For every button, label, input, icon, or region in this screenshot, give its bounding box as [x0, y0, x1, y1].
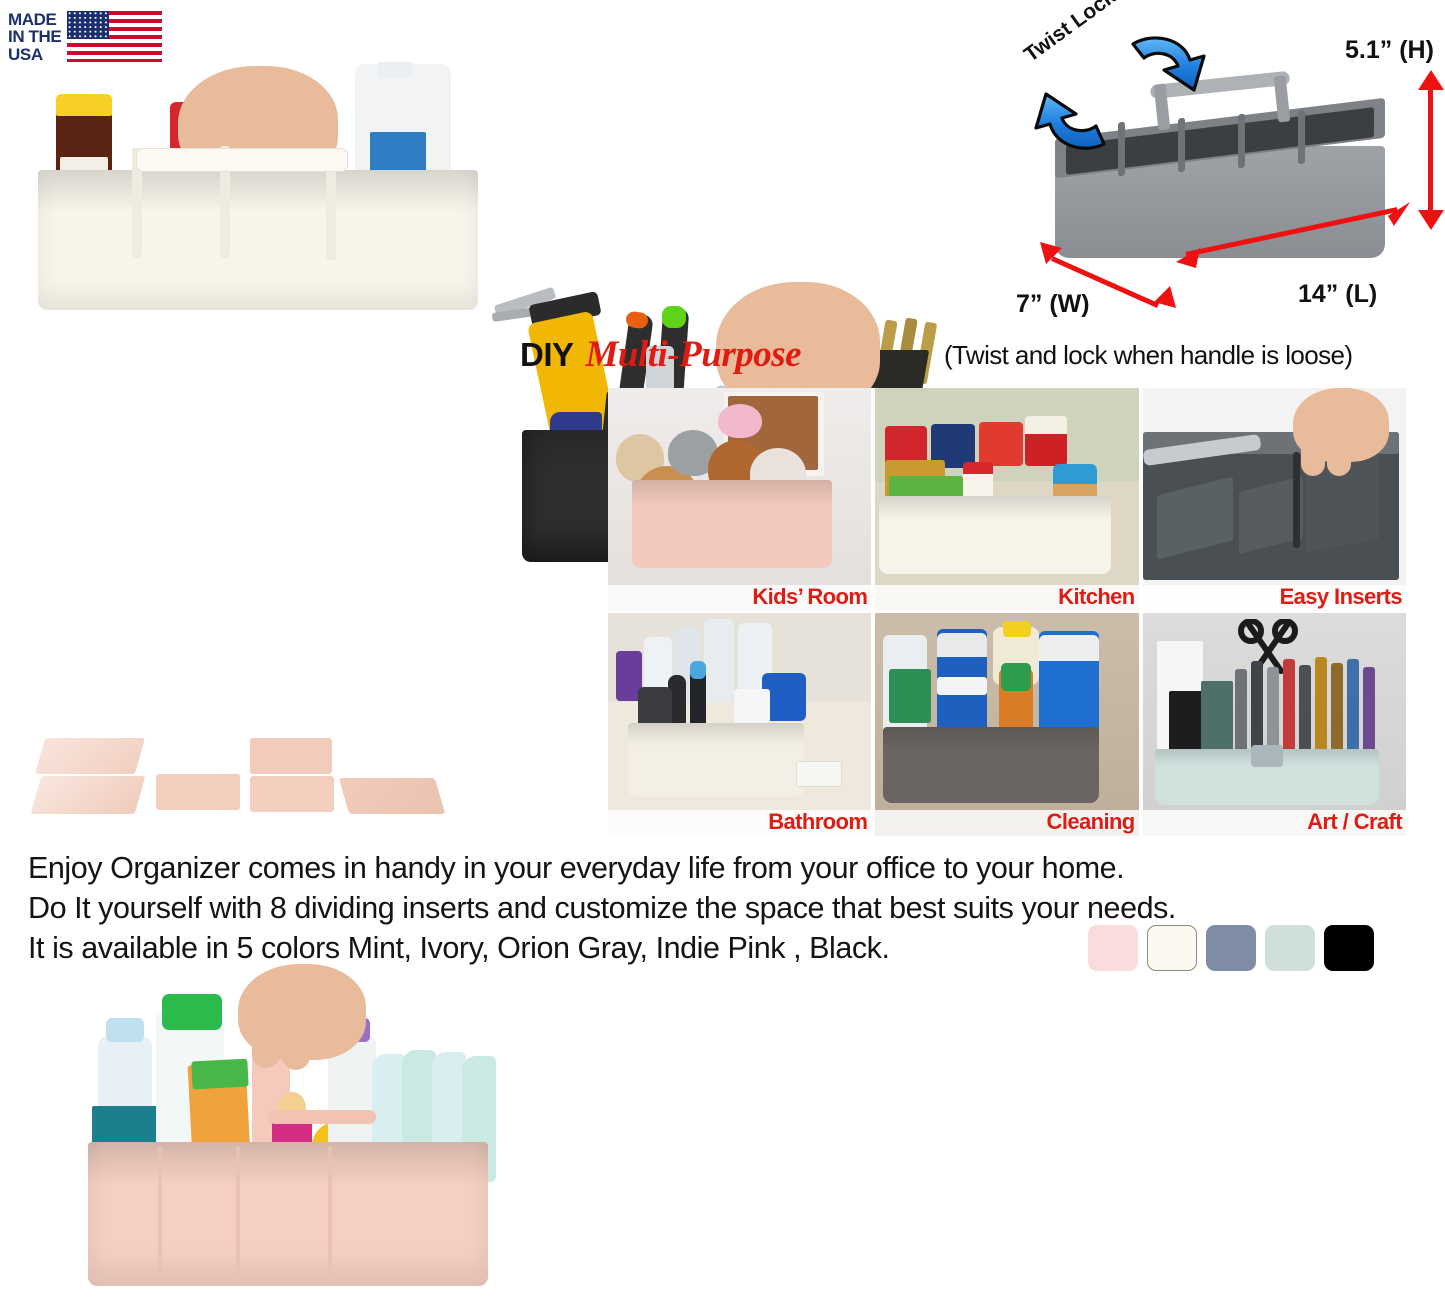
cleaning-yellow-cap	[1003, 621, 1031, 637]
tray-cleaning	[883, 727, 1099, 803]
art-tray-latch	[1251, 745, 1283, 767]
diagram-divider-3	[1238, 114, 1245, 169]
cleaning-clorox-2-cap	[1039, 635, 1099, 661]
cleaning-clorox-1-cap	[937, 633, 987, 657]
cleaning-spray-1-label	[889, 669, 931, 723]
art-marker-4	[1283, 659, 1295, 757]
art-marker-5	[1299, 665, 1311, 759]
height-arrow-line	[1428, 84, 1433, 216]
dimension-diagram: Twist Lock 5.1” (H) 14” (L) 7” (W)	[1010, 18, 1445, 328]
art-marker-2	[1251, 661, 1263, 757]
usecase-grid: Kids’ Room Kitchen	[608, 388, 1408, 836]
insert-edge	[1293, 452, 1300, 548]
hero-photo-ivory-medicine-organizer	[30, 62, 480, 320]
kitchen-jar-red-2	[979, 422, 1023, 466]
kitchen-jar-lid-white	[1025, 416, 1067, 434]
divider-insert-1	[35, 738, 145, 774]
divider-insert-5	[250, 776, 334, 812]
bath-small-box	[734, 689, 770, 723]
tray-kids-room	[632, 480, 832, 568]
finger-p2	[282, 1028, 310, 1070]
footer-line-1: Enjoy Organizer comes in handy in your e…	[28, 848, 1438, 888]
tray-handle-ivory	[136, 148, 348, 172]
usecase-easy-inserts[interactable]: Easy Inserts	[1143, 388, 1408, 611]
kitchen-shaker-lid	[963, 462, 993, 474]
usecase-kids-room[interactable]: Kids’ Room	[608, 388, 873, 611]
diy-multipurpose-heading: DIY Multi-Purpose	[520, 333, 801, 375]
color-swatch-row	[1088, 925, 1374, 971]
usa-flag-icon	[67, 11, 162, 63]
divider-insert-3	[156, 774, 240, 810]
tray-body-pink	[88, 1142, 488, 1286]
usecase-label-kids-room: Kids’ Room	[752, 584, 867, 610]
usecase-label-easy-inserts: Easy Inserts	[1280, 584, 1402, 610]
cleaning-clorox-1-label	[937, 677, 987, 695]
tray-bathroom	[628, 723, 804, 797]
finger-p1	[252, 1024, 280, 1068]
width-arrow-head-bottom	[1152, 286, 1176, 308]
finger-i2	[1327, 428, 1351, 476]
diagram-divider-4	[1298, 110, 1305, 165]
hero-photo-pink-baby-organizer	[40, 956, 540, 1301]
usecase-kitchen[interactable]: Kitchen	[875, 388, 1140, 611]
swatch-ivory[interactable]	[1147, 925, 1197, 971]
divider-insert-4	[250, 738, 332, 774]
art-marker-1	[1235, 669, 1247, 759]
badge-line-3: USA	[8, 46, 61, 64]
divider-inserts-group	[28, 732, 498, 832]
swatch-black[interactable]	[1324, 925, 1374, 971]
tray-handle-pink	[268, 1110, 376, 1124]
tray-body-ivory	[38, 170, 478, 310]
usecase-cleaning[interactable]: Cleaning	[875, 613, 1140, 836]
item-wipes-pack-top	[191, 1059, 248, 1090]
bath-loose-insert	[796, 761, 842, 787]
item-lotion-cap	[106, 1018, 144, 1042]
art-pencil-2	[1331, 663, 1343, 757]
art-pencil-3	[1347, 659, 1359, 757]
bath-toothbrush-head	[690, 661, 706, 679]
infographic-canvas: MADE IN THE USA	[0, 0, 1445, 973]
item-jug-cap	[378, 62, 412, 78]
usecase-label-bathroom: Bathroom	[768, 809, 867, 835]
height-label: 5.1” (H)	[1345, 36, 1434, 65]
usecase-bathroom[interactable]: Bathroom	[608, 613, 873, 836]
badge-line-1: MADE	[8, 11, 61, 29]
divider-insert-2	[31, 776, 146, 814]
heading-multipurpose-text: Multi-Purpose	[586, 333, 802, 376]
swatch-orion-gray[interactable]	[1206, 925, 1256, 971]
plush-pink	[718, 404, 762, 438]
tray-seam-1	[158, 1146, 162, 1274]
cleaning-green-pump	[1001, 663, 1031, 691]
swatch-indie-pink[interactable]	[1088, 925, 1138, 971]
tray-seam-2	[236, 1146, 240, 1278]
height-arrow-head-top	[1418, 70, 1444, 90]
swatch-mint[interactable]	[1265, 925, 1315, 971]
width-arrow-head-top	[1040, 242, 1064, 264]
art-pencil-4	[1363, 667, 1375, 757]
length-arrow-head-left	[1176, 246, 1200, 268]
badge-line-2: IN THE	[8, 28, 61, 46]
item-yellow-cap	[56, 94, 112, 116]
item-screwdriver-green-tip	[662, 306, 686, 328]
width-label: 7” (W)	[1016, 290, 1090, 319]
bath-mouthwash	[704, 619, 734, 703]
usecase-label-kitchen: Kitchen	[1058, 584, 1134, 610]
heading-diy-text: DIY	[520, 336, 574, 374]
art-pencil-1	[1315, 657, 1327, 757]
length-label: 14” (L)	[1298, 280, 1377, 309]
twist-lock-note: (Twist and lock when handle is loose)	[944, 340, 1352, 371]
finger-i1	[1301, 432, 1325, 476]
item-green-cap	[162, 994, 222, 1030]
footer-line-2: Do It yourself with 8 dividing inserts a…	[28, 888, 1438, 928]
made-in-usa-badge: MADE IN THE USA	[8, 8, 193, 66]
tray-seam-3	[328, 1146, 332, 1278]
length-arrow-head-right	[1384, 202, 1410, 226]
usecase-label-art-craft: Art / Craft	[1307, 809, 1402, 835]
made-in-usa-text: MADE IN THE USA	[8, 11, 61, 64]
height-arrow-head-bottom	[1418, 210, 1444, 230]
divider-insert-6	[339, 778, 445, 814]
usecase-art-craft[interactable]: Art / Craft	[1143, 613, 1408, 836]
usecase-label-cleaning: Cleaning	[1047, 809, 1135, 835]
tray-kitchen	[879, 496, 1111, 574]
